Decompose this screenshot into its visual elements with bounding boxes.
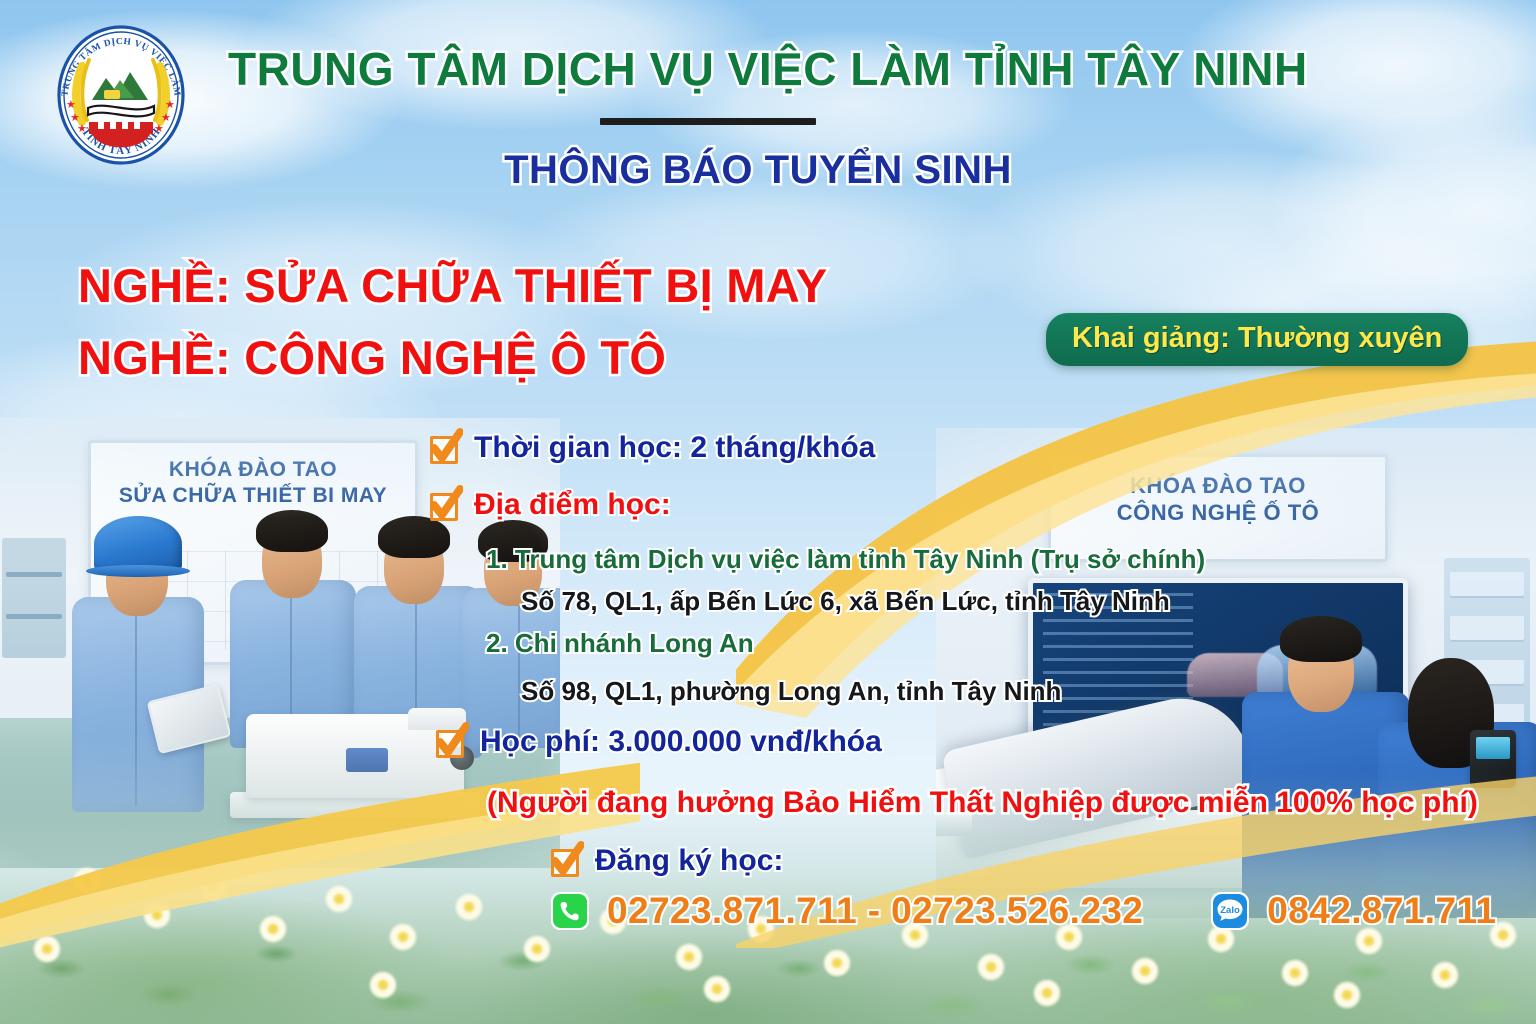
location-2-address: Số 98, QL1, phường Long An, tỉnh Tây Nin…: [521, 676, 1061, 707]
phone-numbers[interactable]: 02723.871.711 - 02723.526.232: [607, 890, 1143, 932]
location-2-name: 2. Chi nhánh Long An: [486, 628, 754, 659]
contact-row: 02723.871.711 - 02723.526.232 Zalo 0842.…: [549, 890, 1496, 932]
checkbox-icon: [434, 726, 468, 760]
location-1-name: 1. Trung tâm Dịch vụ việc làm tỉnh Tây N…: [486, 544, 1205, 575]
tuition-exemption-note: (Người đang hưởng Bảo Hiểm Thất Nghiệp đ…: [487, 786, 1478, 820]
zalo-label: Zalo: [1221, 905, 1241, 916]
detail-row-location-heading: Địa điểm học:: [428, 489, 671, 523]
zalo-number[interactable]: 0842.871.711: [1267, 890, 1496, 932]
register-heading-text: Đăng ký học:: [595, 845, 783, 877]
details-content: Thời gian học: 2 tháng/khóa Địa điểm học…: [0, 0, 1536, 1024]
checkbox-icon: [428, 489, 462, 523]
duration-text: Thời gian học: 2 tháng/khóa: [474, 432, 875, 464]
checkbox-icon: [549, 845, 583, 879]
checkbox-icon: [428, 432, 462, 466]
detail-row-duration: Thời gian học: 2 tháng/khóa: [428, 432, 875, 466]
zalo-icon[interactable]: Zalo: [1209, 890, 1251, 932]
poster-root: KHÓA ĐÀO TAO SỬA CHỮA THIẾT BI MAY: [0, 0, 1536, 1024]
tuition-text: Học phí: 3.000.000 vnđ/khóa: [480, 726, 882, 758]
phone-icon[interactable]: [549, 890, 591, 932]
detail-row-register: Đăng ký học:: [549, 845, 783, 879]
detail-row-tuition: Học phí: 3.000.000 vnđ/khóa: [434, 726, 882, 760]
location-heading-text: Địa điểm học:: [474, 489, 671, 521]
location-1-address: Số 78, QL1, ấp Bến Lức 6, xã Bến Lức, tỉ…: [521, 586, 1170, 617]
